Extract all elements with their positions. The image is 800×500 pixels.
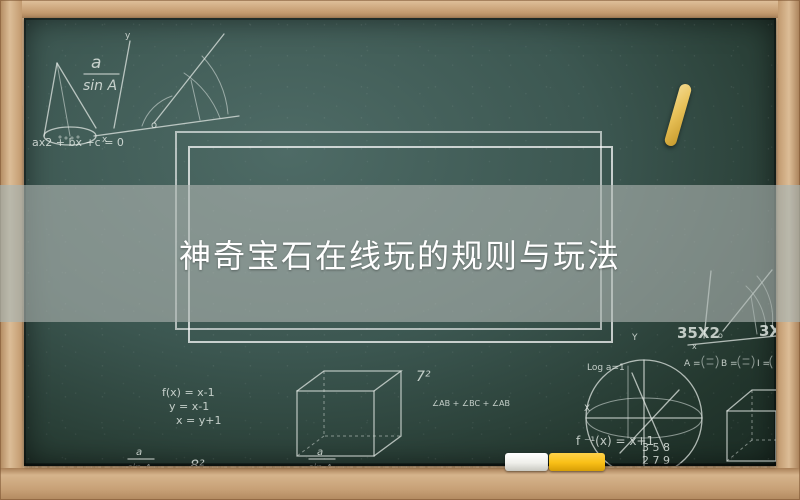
yellow-chalk-stick: [549, 453, 605, 471]
frame-bevel-bottom: [0, 468, 800, 500]
svg-text:x = y+1: x = y+1: [176, 414, 221, 427]
white-chalk-stick: [505, 453, 548, 471]
log-identity: Log a=1: [587, 363, 625, 373]
cone-diagram: [44, 63, 96, 145]
svg-text:a: a: [91, 53, 101, 73]
multiplication-3x2: 3X2: [759, 322, 776, 340]
angle-sum-expression: ∠AB + ∠BC + ∠AB: [432, 399, 510, 408]
cube-diagram-2: [727, 390, 776, 461]
svg-text:A =: A =: [684, 359, 701, 369]
svg-text:Y: Y: [631, 333, 638, 343]
svg-text:B =: B =: [721, 359, 738, 369]
svg-text:y: y: [125, 31, 131, 41]
svg-text:a: a: [317, 447, 323, 458]
frame-bevel-top: [0, 0, 800, 18]
svg-text:x: x: [102, 135, 108, 145]
svg-text:x: x: [692, 342, 697, 351]
svg-text:3 5 8: 3 5 8: [642, 441, 670, 454]
multiplication-35x2: 35X2: [677, 324, 720, 342]
seven-squared: 7²: [416, 369, 431, 385]
quadratic-equation: ax2 + bx +c = 0: [32, 136, 124, 149]
svg-text:a: a: [136, 447, 142, 458]
svg-text:I =: I =: [757, 359, 770, 369]
svg-text:o: o: [151, 120, 157, 131]
svg-text:f(x) = x-1: f(x) = x-1: [162, 386, 215, 399]
screenshot-root: a sin A ax2 + bx +c = 0 y x o: [0, 0, 800, 500]
function-equations: f(x) = x-1 y = x-1 x = y+1: [162, 386, 221, 427]
svg-text:X: X: [584, 404, 590, 414]
chalk-ledge-line: [24, 463, 776, 466]
sine-rule-formula: a sin A: [83, 53, 119, 94]
svg-text:y = x-1: y = x-1: [169, 400, 209, 413]
matrix-expressions: A = B = I =: [684, 356, 772, 369]
svg-text:sin A: sin A: [83, 78, 117, 94]
page-title: 神奇宝石在线玩的规则与玩法: [0, 185, 800, 322]
cube-diagram-1: [297, 371, 401, 456]
